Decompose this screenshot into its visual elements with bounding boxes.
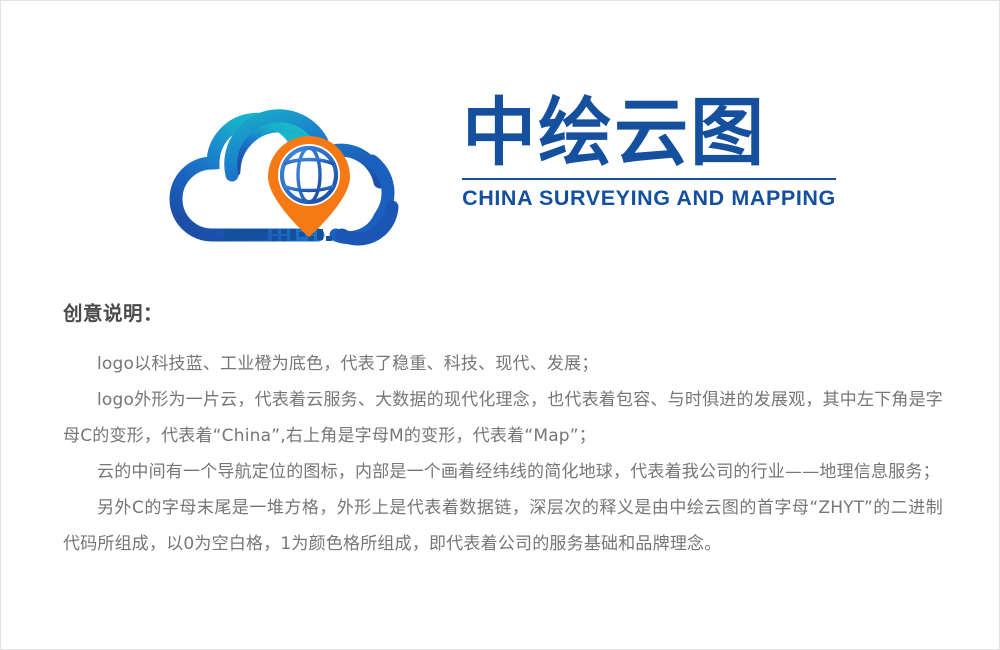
logo-english-name: CHINA SURVEYING AND MAPPING xyxy=(462,186,836,211)
page-canvas: 中绘云图 CHINA SURVEYING AND MAPPING 创意说明： l… xyxy=(0,0,1000,650)
creative-description-block: 创意说明： logo以科技蓝、工业橙为底色，代表了稳重、科技、现代、发展； lo… xyxy=(63,297,943,562)
section-heading: 创意说明： xyxy=(63,297,943,326)
logo-chinese-name: 中绘云图 xyxy=(462,98,836,169)
description-paragraph: logo外形为一片云，代表着云服务、大数据的现代化理念，也代表着包容、与时俱进的… xyxy=(63,382,943,454)
description-paragraph: logo以科技蓝、工业橙为底色，代表了稳重、科技、现代、发展； xyxy=(63,346,943,382)
logo-block: 中绘云图 CHINA SURVEYING AND MAPPING xyxy=(1,49,1000,254)
description-paragraph: 另外C的字母末尾是一堆方格，外形上是代表着数据链，深层次的释义是由中绘云图的首字… xyxy=(63,490,943,562)
map-pin-icon xyxy=(268,135,350,236)
globe-icon xyxy=(282,147,336,203)
logo-divider-rule xyxy=(462,178,836,180)
logo-wordmark: 中绘云图 CHINA SURVEYING AND MAPPING xyxy=(462,98,836,211)
cloud-pin-globe-logo-icon xyxy=(166,57,428,247)
description-paragraph: 云的中间有一个导航定位的图标，内部是一个画着经纬线的简化地球，代表着我公司的行业… xyxy=(63,454,943,490)
